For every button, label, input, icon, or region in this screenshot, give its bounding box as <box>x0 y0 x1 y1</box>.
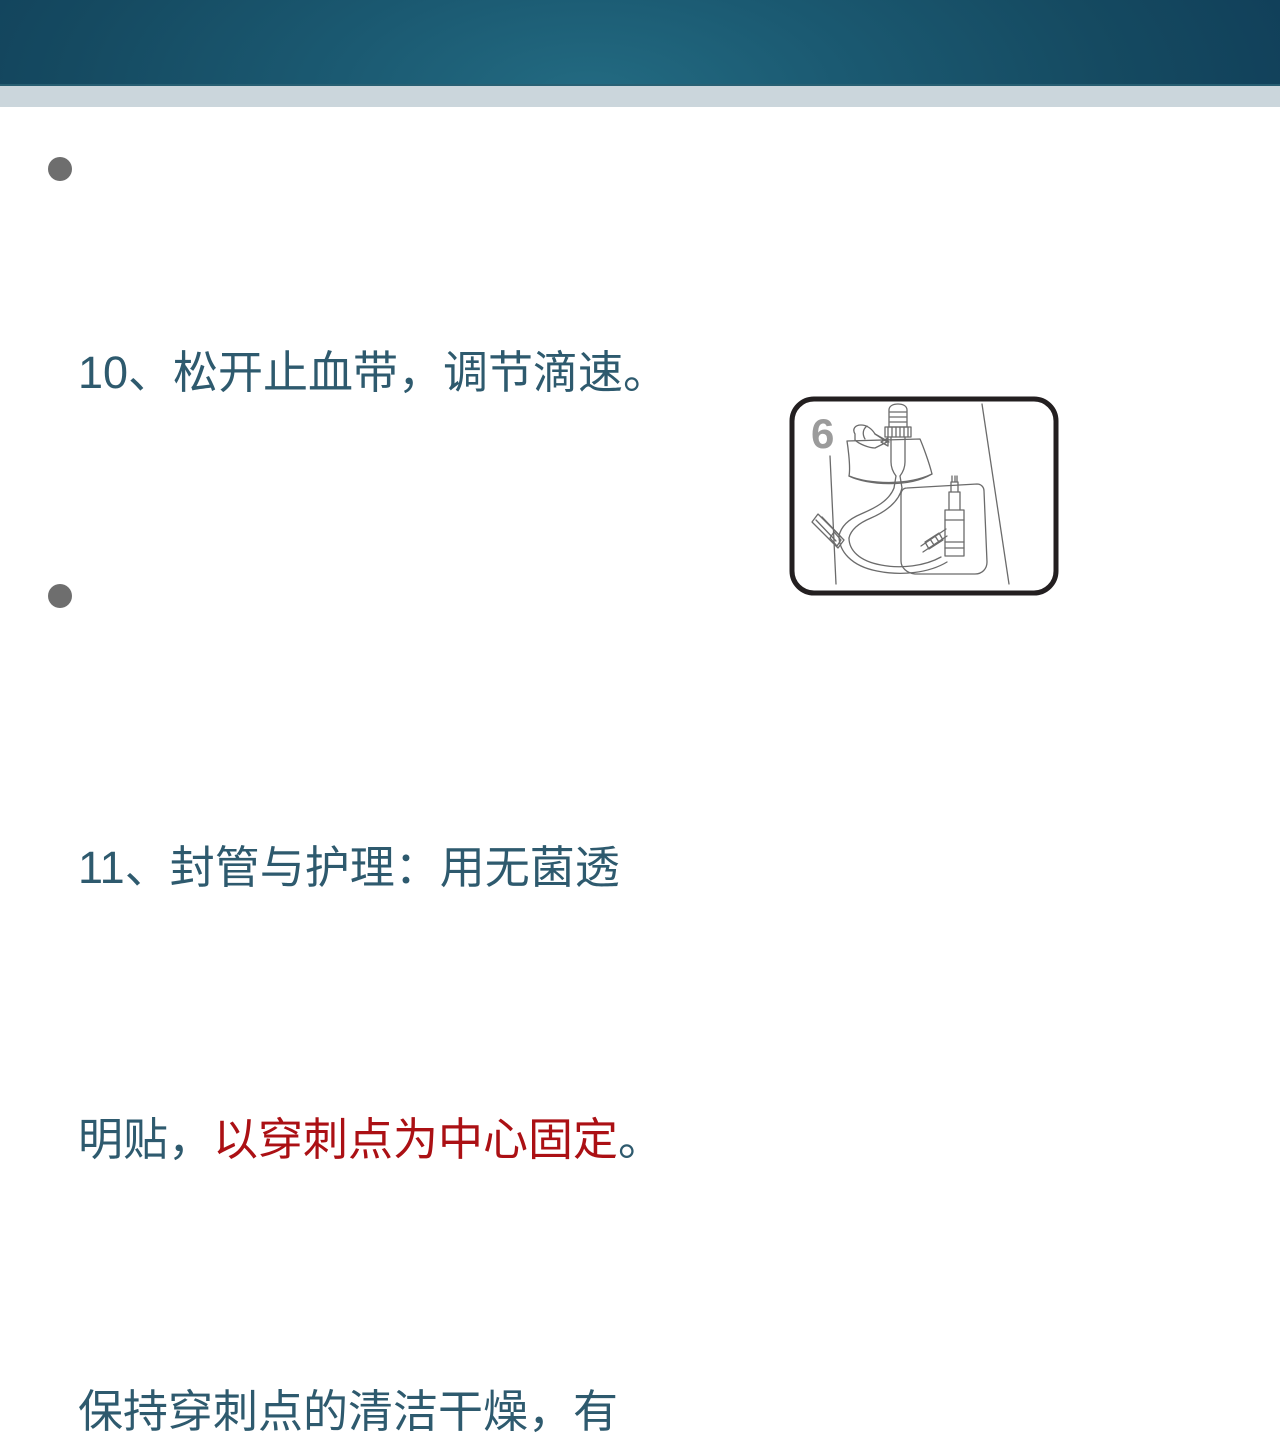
procedure-illustration: 6 <box>789 396 1059 596</box>
iv-catheter-dressing-illustration: 6 <box>789 396 1059 596</box>
text-segment: 10、松开止血带，调节滴速。 <box>78 347 668 398</box>
header-gradient-band <box>0 0 1280 86</box>
bullet-point-icon <box>48 584 72 608</box>
bullet-line: 保持穿刺点的清洁干燥，有 <box>78 1378 744 1440</box>
bullet-item-10: 10、松开止血带，调节滴速。 <box>44 135 744 543</box>
bullet-list: 10、松开止血带，调节滴速。 11、封管与护理：用无菌透 明贴，以穿刺点为中心固… <box>44 135 744 1440</box>
bullet-line: 10、松开止血带，调节滴速。 <box>78 339 744 407</box>
text-segment: 保持穿刺点的清洁干燥，有 <box>78 1386 618 1437</box>
bullet-item-11: 11、封管与护理：用无菌透 明贴，以穿刺点为中心固定。 保持穿刺点的清洁干燥，有… <box>44 562 744 1440</box>
header-accent-strip <box>0 86 1280 107</box>
text-segment: 。 <box>618 1114 663 1165</box>
slide-content-area: 10、松开止血带，调节滴速。 11、封管与护理：用无菌透 明贴，以穿刺点为中心固… <box>0 107 1280 720</box>
bullet-point-icon <box>48 157 72 181</box>
bullet-line: 11、封管与护理：用无菌透 <box>78 834 744 902</box>
text-segment-emphasis: 以穿刺点为中心固定 <box>213 1114 618 1165</box>
text-segment: 明贴， <box>78 1114 213 1165</box>
illustration-step-number: 6 <box>811 410 834 457</box>
bullet-line: 明贴，以穿刺点为中心固定。 <box>78 1106 744 1174</box>
text-segment: 11、封管与护理：用无菌透 <box>78 842 620 893</box>
